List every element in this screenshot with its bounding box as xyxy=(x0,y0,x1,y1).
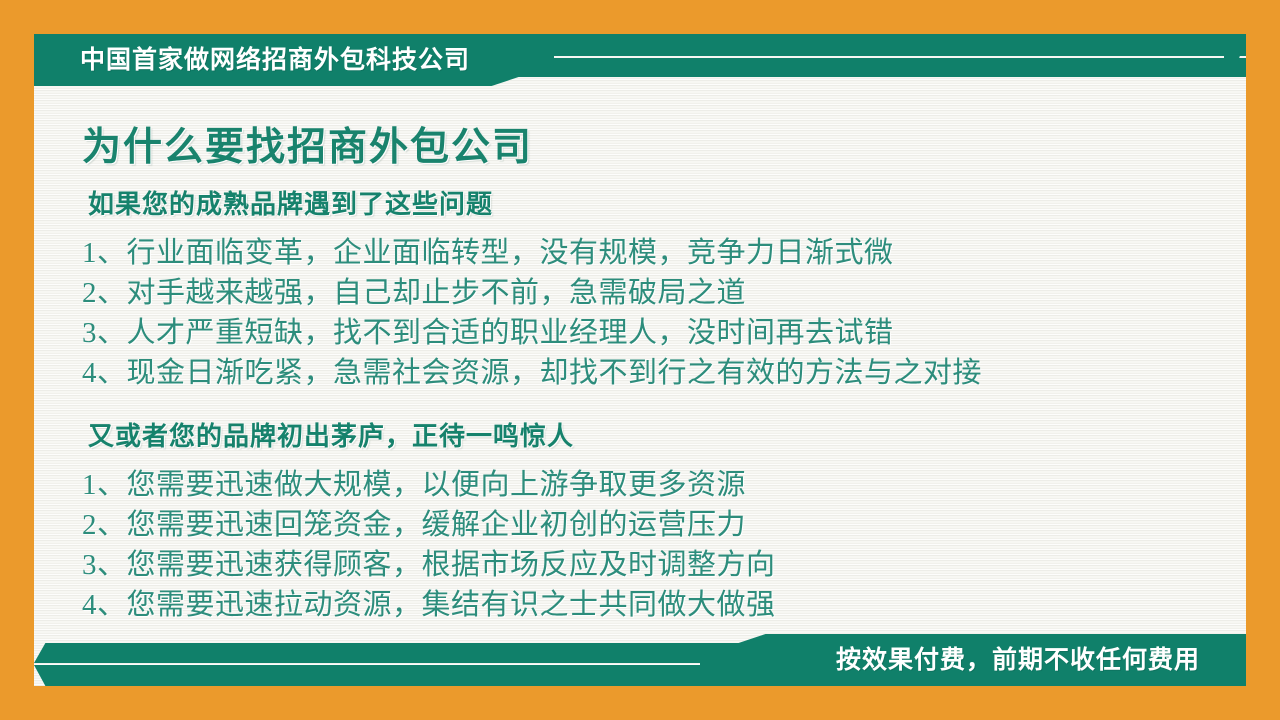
slide-body: 为什么要找招商外包公司 如果您的成熟品牌遇到了这些问题 1、行业面临变革，企业面… xyxy=(34,86,1246,626)
list-item: 1、行业面临变革，企业面临转型，没有规模，竞争力日渐式微 xyxy=(82,233,982,273)
list-item: 1、您需要迅速做大规模，以便向上游争取更多资源 xyxy=(82,465,776,505)
header-tagline: 中国首家做网络招商外包科技公司 xyxy=(80,34,470,86)
list-item: 4、现金日渐吃紧，急需社会资源，却找不到行之有效的方法与之对接 xyxy=(82,353,982,393)
list-item: 3、人才严重短缺，找不到合适的职业经理人，没时间再去试错 xyxy=(82,313,982,353)
section-heading: 又或者您的品牌初出茅庐，正待一鸣惊人 xyxy=(88,416,776,453)
footer-tagline: 按效果付费，前期不收任何费用 xyxy=(836,634,1200,686)
footer-banner: 按效果付费，前期不收任何费用 xyxy=(34,634,1246,686)
section-list: 1、行业面临变革，企业面临转型，没有规模，竞争力日渐式微 2、对手越来越强，自己… xyxy=(82,233,982,393)
list-item: 2、对手越来越强，自己却止步不前，急需破局之道 xyxy=(82,273,982,313)
list-item: 4、您需要迅速拉动资源，集结有识之士共同做大做强 xyxy=(82,585,776,625)
footer-rule-top xyxy=(34,643,746,663)
section-mature-brand: 如果您的成熟品牌遇到了这些问题 1、行业面临变革，企业面临转型，没有规模，竞争力… xyxy=(82,184,982,393)
section-heading: 如果您的成熟品牌遇到了这些问题 xyxy=(88,184,982,221)
slide-root: 中国首家做网络招商外包科技公司 为什么要找招商外包公司 如果您的成熟品牌遇到了这… xyxy=(0,0,1280,720)
list-item: 2、您需要迅速回笼资金，缓解企业初创的运营压力 xyxy=(82,505,776,545)
section-list: 1、您需要迅速做大规模，以便向上游争取更多资源 2、您需要迅速回笼资金，缓解企业… xyxy=(82,465,776,625)
header-rule-top xyxy=(474,34,1246,56)
section-new-brand: 又或者您的品牌初出茅庐，正待一鸣惊人 1、您需要迅速做大规模，以便向上游争取更多… xyxy=(82,416,776,625)
header-rule-bottom xyxy=(474,58,1246,77)
page-title: 为什么要找招商外包公司 xyxy=(82,116,533,172)
list-item: 3、您需要迅速获得顾客，根据市场反应及时调整方向 xyxy=(82,545,776,585)
footer-rule-bottom xyxy=(34,665,746,686)
header-banner: 中国首家做网络招商外包科技公司 xyxy=(34,34,1246,86)
